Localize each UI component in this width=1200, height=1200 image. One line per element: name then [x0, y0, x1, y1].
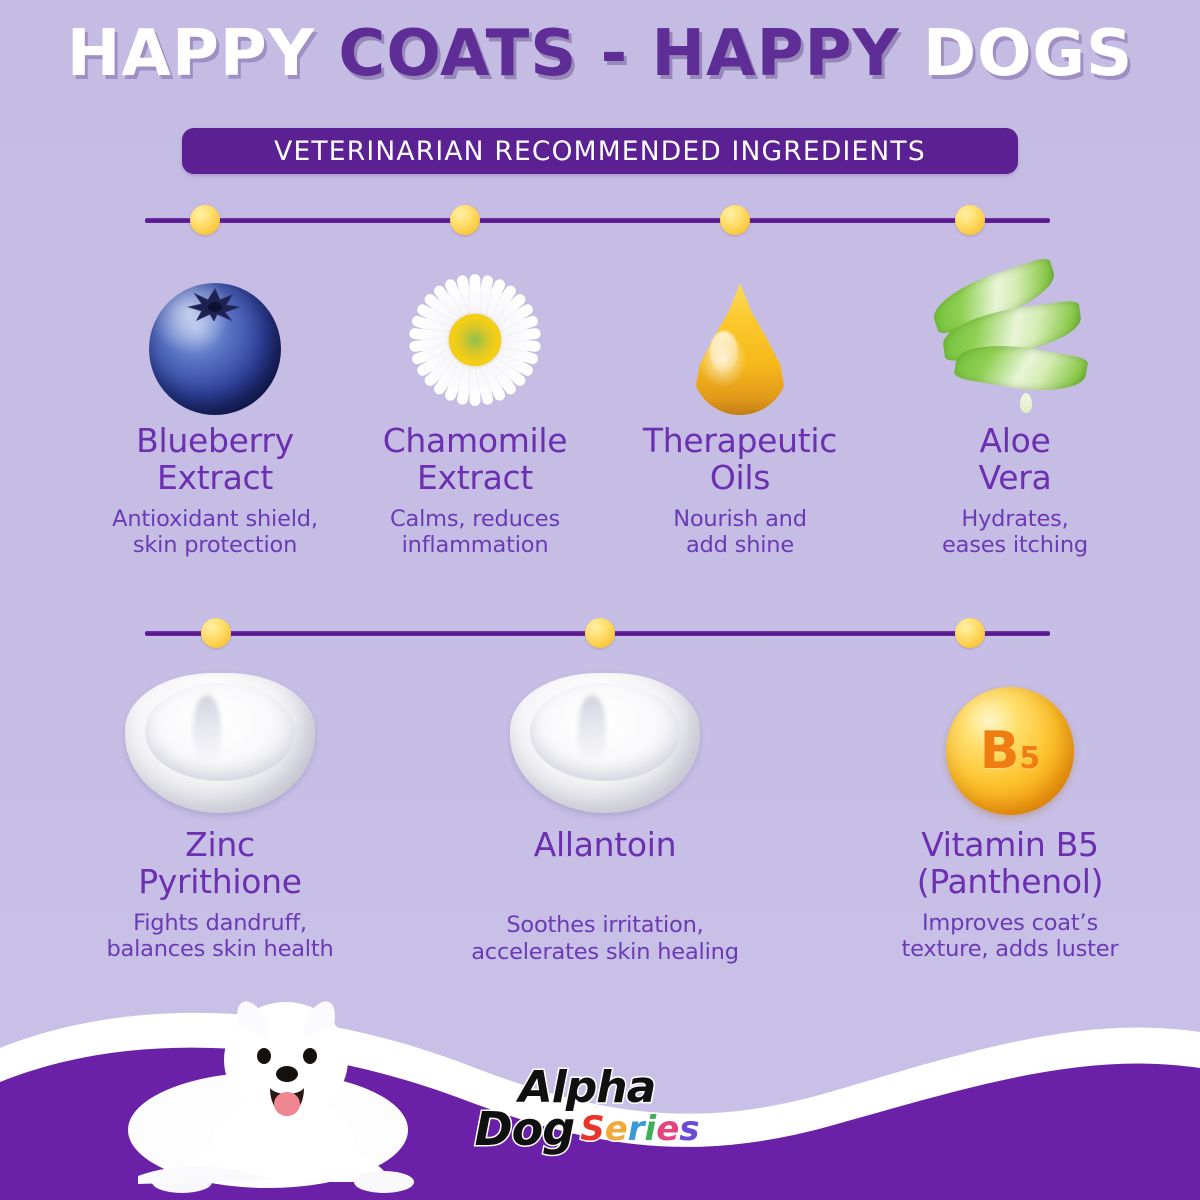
- aloe-gel-drip: [1020, 393, 1032, 413]
- divider-dot: [585, 618, 615, 648]
- ingredient-description: Calms, reduces inflammation: [330, 506, 620, 559]
- ingredient-name: Vitamin B5 (Panthenol): [840, 827, 1180, 901]
- ingredient-description: Antioxidant shield, skin protection: [70, 506, 360, 559]
- title-part-happy: HAPPY: [67, 17, 339, 91]
- divider-dot: [955, 618, 985, 648]
- ingredient-desc-line1: Improves coat’s: [840, 910, 1180, 937]
- ingredient-name-line2: Pyrithione: [70, 864, 370, 901]
- divider-bar: [145, 218, 1050, 223]
- title-part-coats-happy: COATS - HAPPY: [338, 17, 899, 91]
- ingredient-desc-line1: Fights dandruff,: [70, 910, 370, 937]
- ingredient-desc-line2: eases itching: [880, 532, 1150, 559]
- divider-dot: [955, 205, 985, 235]
- ingredient-desc-line1: Soothes irritation,: [440, 912, 770, 939]
- ingredient-name: Blueberry Extract: [70, 423, 360, 497]
- dog-nose: [276, 1066, 298, 1082]
- b5-number: 5: [1019, 741, 1040, 776]
- ingredient-description: Improves coat’s texture, adds luster: [840, 910, 1180, 963]
- chamomile-flower-icon: [330, 250, 620, 415]
- ingredient-desc-line1: Nourish and: [600, 506, 880, 533]
- flower-core: [449, 314, 501, 366]
- title-part-dogs: DOGS: [900, 17, 1133, 91]
- ingredient-card-aloe-vera[interactable]: Aloe Vera Hydrates, eases itching: [880, 250, 1150, 559]
- ingredient-card-vitamin-b5[interactable]: B5 Vitamin B5 (Panthenol) Improves coat’…: [840, 660, 1180, 963]
- dog-tongue: [274, 1092, 300, 1116]
- logo-series-letter: S: [580, 1109, 605, 1149]
- ingredient-desc-line1: Antioxidant shield,: [70, 506, 360, 533]
- logo-dog-text: Dog: [474, 1106, 574, 1152]
- logo-second-row: Dog Series: [432, 1106, 742, 1152]
- dog-eye-right: [303, 1048, 317, 1064]
- ingredient-name-line1: Chamomile: [330, 423, 620, 460]
- brand-logo[interactable]: Alpha Dog Series: [432, 1066, 742, 1178]
- dog-eye-left: [257, 1048, 271, 1064]
- b5-letter: B: [980, 721, 1020, 781]
- logo-series-letter: i: [645, 1109, 657, 1149]
- ingredient-name-line1: Vitamin B5: [840, 827, 1180, 864]
- ingredient-name-line2: Vera: [880, 460, 1150, 497]
- page-title: HAPPY COATS - HAPPY DOGS: [0, 22, 1200, 86]
- oil-droplet-icon: [600, 250, 880, 415]
- powder-bowl-icon: [440, 660, 770, 815]
- ingredient-desc-line1: Hydrates,: [880, 506, 1150, 533]
- logo-series-text: Series: [580, 1112, 699, 1146]
- infographic-page: HAPPY COATS - HAPPY DOGS VETERINARIAN RE…: [0, 0, 1200, 1200]
- logo-series-letter: e: [656, 1109, 679, 1149]
- ingredient-name-line1: Allantoin: [440, 827, 770, 864]
- powder-peak: [578, 695, 606, 761]
- ingredient-desc-line2: skin protection: [70, 532, 360, 559]
- divider-row-1: [145, 205, 1050, 235]
- b5-badge-label: B5: [980, 725, 1041, 777]
- powder-peak: [193, 695, 221, 761]
- ingredient-name-line1: Blueberry: [70, 423, 360, 460]
- ingredient-desc-line2: inflammation: [330, 532, 620, 559]
- ingredient-name-line2: Extract: [330, 460, 620, 497]
- powder-bowl-icon: [70, 660, 370, 815]
- divider-row-2: [145, 618, 1050, 648]
- droplet-highlight: [710, 331, 738, 373]
- logo-series-letter: r: [628, 1109, 645, 1149]
- logo-series-letter: e: [605, 1109, 628, 1149]
- ingredient-name-line2: (Panthenol): [840, 864, 1180, 901]
- ingredient-description: Fights dandruff, balances skin health: [70, 910, 370, 963]
- ingredient-description: Soothes irritation, accelerates skin hea…: [440, 912, 770, 965]
- ingredient-card-blueberry[interactable]: Blueberry Extract Antioxidant shield, sk…: [70, 250, 360, 559]
- divider-dot: [720, 205, 750, 235]
- ingredient-name: Allantoin: [440, 827, 770, 864]
- ingredient-desc-line2: accelerates skin healing: [440, 939, 770, 966]
- ingredient-name: Aloe Vera: [880, 423, 1150, 497]
- ingredient-desc-line2: add shine: [600, 532, 880, 559]
- ingredient-card-chamomile[interactable]: Chamomile Extract Calms, reduces inflamm…: [330, 250, 620, 559]
- ingredient-name-line1: Zinc: [70, 827, 370, 864]
- subtitle-banner: VETERINARIAN RECOMMENDED INGREDIENTS: [182, 128, 1018, 174]
- ingredient-name: Zinc Pyrithione: [70, 827, 370, 901]
- ingredient-card-allantoin[interactable]: Allantoin Soothes irritation, accelerate…: [440, 660, 770, 965]
- ingredient-card-therapeutic-oils[interactable]: Therapeutic Oils Nourish and add shine: [600, 250, 880, 559]
- ingredient-name: Chamomile Extract: [330, 423, 620, 497]
- ingredient-name-line1: Aloe: [880, 423, 1150, 460]
- vitamin-b5-sphere-icon: B5: [840, 660, 1180, 815]
- divider-dot: [201, 618, 231, 648]
- ingredient-name-line2: Extract: [70, 460, 360, 497]
- blueberry-icon: [70, 250, 360, 415]
- subtitle-text: VETERINARIAN RECOMMENDED INGREDIENTS: [274, 136, 926, 167]
- ingredient-desc-line2: texture, adds luster: [840, 936, 1180, 963]
- ingredient-name-line2: Oils: [600, 460, 880, 497]
- ingredient-name: Therapeutic Oils: [600, 423, 880, 497]
- blueberry-crown-icon: [187, 287, 243, 321]
- ingredient-description: Nourish and add shine: [600, 506, 880, 559]
- aloe-vera-icon: [880, 250, 1150, 415]
- ingredient-desc-line1: Calms, reduces: [330, 506, 620, 533]
- ingredient-description: Hydrates, eases itching: [880, 506, 1150, 559]
- ingredient-name-line1: Therapeutic: [600, 423, 880, 460]
- divider-dot: [450, 205, 480, 235]
- droplet-body: [692, 283, 788, 415]
- ingredient-desc-line2: balances skin health: [70, 936, 370, 963]
- logo-series-letter: s: [679, 1109, 699, 1149]
- ingredient-card-zinc-pyrithione[interactable]: Zinc Pyrithione Fights dandruff, balance…: [70, 660, 370, 963]
- divider-dot: [190, 205, 220, 235]
